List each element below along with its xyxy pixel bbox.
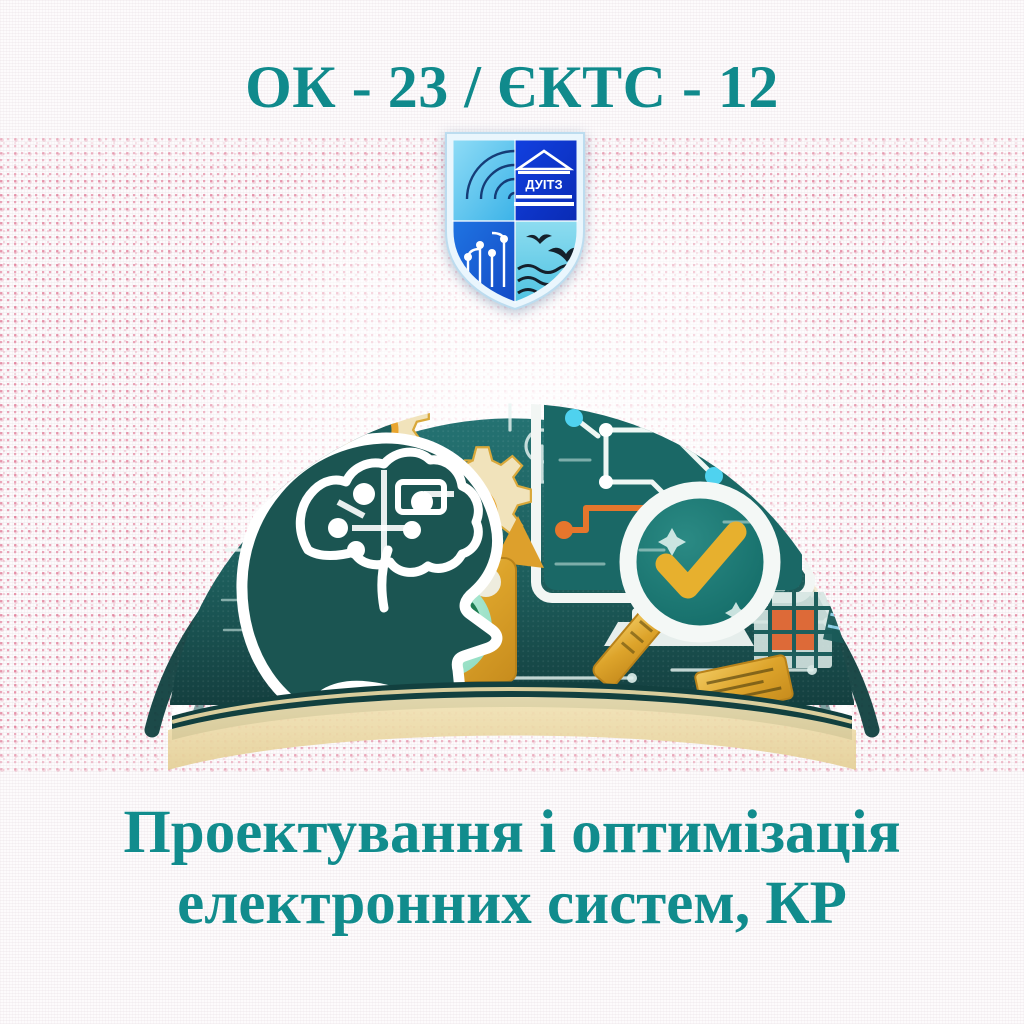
course-title-line-2: електронних систем, КР [177,871,847,936]
emblem-abbreviation: ДУІТЗ [525,177,562,192]
striped-module-upper [796,357,897,518]
footer: Проектування і оптимізація електронних с… [0,800,1024,980]
course-title-line-1: Проектування і оптимізація [123,800,900,865]
university-emblem: ДУІТЗ [440,127,590,312]
course-card: ОК - 23 / ЄКТС - 12 [0,0,1024,1024]
header: ОК - 23 / ЄКТС - 12 [0,48,1024,126]
striped-module-lower [823,545,896,650]
course-code-text: ОК - 23 / ЄКТС - 12 [245,53,779,122]
